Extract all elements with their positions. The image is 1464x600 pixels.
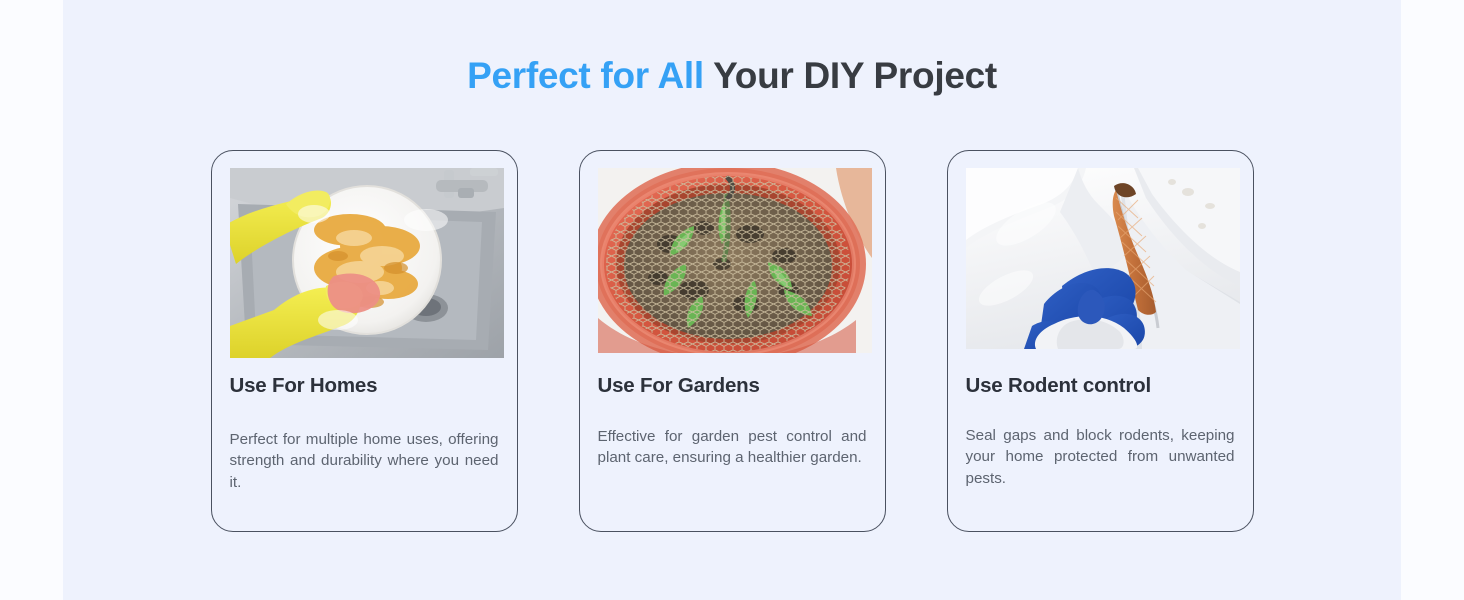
content-panel: Perfect for All Your DIY Project <box>63 0 1401 600</box>
card-title: Use For Homes <box>230 374 499 399</box>
card-description: Effective for garden pest control and pl… <box>598 426 867 469</box>
feature-card-gardens[interactable]: Use For Gardens Effective for garden pes… <box>579 150 886 532</box>
feature-card-homes[interactable]: Use For Homes Perfect for multiple home … <box>211 150 518 532</box>
rodent-gap-sealing-photo <box>966 168 1240 349</box>
card-title: Use Rodent control <box>966 374 1235 399</box>
card-description: Seal gaps and block rodents, keeping you… <box>966 425 1235 490</box>
page-title-rest: Your DIY Project <box>704 55 997 96</box>
feature-card-list: Use For Homes Perfect for multiple home … <box>63 150 1401 532</box>
plant-pot-mesh-netting-photo <box>598 168 872 353</box>
page-title-accent: Perfect for All <box>467 55 704 96</box>
feature-card-rodent-control[interactable]: Use Rodent control Seal gaps and block r… <box>947 150 1254 532</box>
page-title: Perfect for All Your DIY Project <box>63 55 1401 97</box>
card-description: Perfect for multiple home uses, offering… <box>230 429 499 494</box>
card-title: Use For Gardens <box>598 374 867 399</box>
dish-washing-yellow-gloves-photo <box>230 168 504 358</box>
